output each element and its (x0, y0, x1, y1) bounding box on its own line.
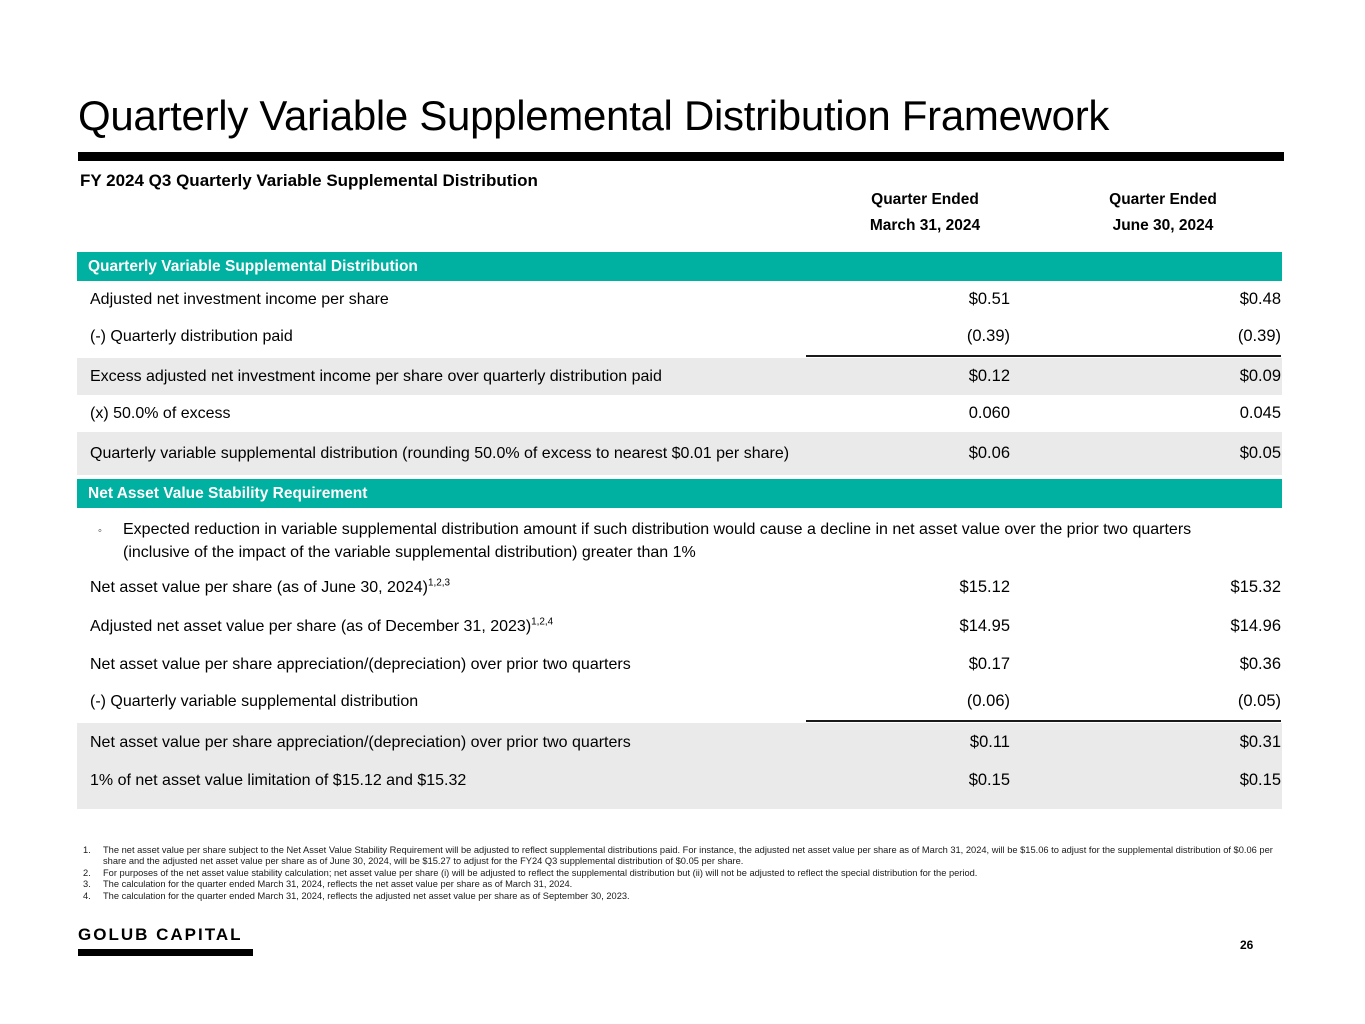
row-value-q1: $0.11 (806, 732, 1044, 753)
table-row: Excess adjusted net investment income pe… (77, 358, 1282, 395)
table-net-asset-value-stability-requirement: Net Asset Value Stability Requirement ◦ … (77, 479, 1282, 809)
logo-underline-bar (78, 949, 253, 956)
footnote-number: 4. (83, 891, 103, 902)
table-quarterly-variable-supplemental-distribution: Quarterly Variable Supplemental Distribu… (77, 252, 1282, 475)
page-number: 26 (1240, 938, 1253, 952)
title-divider-rule (78, 152, 1284, 161)
table-row: Adjusted net asset value per share (as o… (77, 607, 1282, 646)
table-row: Net asset value per share appreciation/(… (77, 646, 1282, 683)
column-header-q1-line1: Quarter Ended (806, 187, 1044, 213)
page-title: Quarterly Variable Supplemental Distribu… (78, 92, 1109, 140)
footnote-number: 2. (83, 868, 103, 879)
section-band-net-asset-value-stability-requirement: Net Asset Value Stability Requirement (77, 479, 1282, 508)
row-label: (-) Quarterly variable supplemental dist… (77, 691, 806, 712)
row-value-q2: $14.96 (1044, 616, 1282, 637)
row-label: 1% of net asset value limitation of $15.… (77, 770, 806, 791)
column-header-q2-line2: June 30, 2024 (1044, 213, 1282, 239)
row-value-q1: $14.95 (806, 616, 1044, 637)
row-label-footnote-ref: 1,2,3 (428, 578, 450, 589)
table-row: Net asset value per share (as of June 30… (77, 568, 1282, 607)
row-value-q2: $0.48 (1044, 289, 1282, 310)
column-header-q2: Quarter Ended June 30, 2024 (1044, 187, 1282, 239)
footnote-text: The net asset value per share subject to… (103, 845, 1283, 868)
row-label: Net asset value per share (as of June 30… (77, 577, 806, 598)
row-label: Excess adjusted net investment income pe… (77, 366, 806, 387)
table-row: (-) Quarterly distribution paid (0.39) (… (77, 318, 1282, 355)
row-value-q2: $0.05 (1044, 443, 1282, 464)
table-row: (x) 50.0% of excess 0.060 0.045 (77, 395, 1282, 432)
column-header-q1-line2: March 31, 2024 (806, 213, 1044, 239)
row-value-q2: $0.15 (1044, 770, 1282, 791)
row-value-q1: $0.51 (806, 289, 1044, 310)
table-row-spacer (77, 799, 1282, 809)
footnote-text: The calculation for the quarter ended Ma… (103, 891, 1283, 902)
row-label: Net asset value per share appreciation/(… (77, 732, 806, 753)
footnote-number: 1. (83, 845, 103, 868)
row-value-q1: $0.12 (806, 366, 1044, 387)
footnote-text: The calculation for the quarter ended Ma… (103, 879, 1283, 890)
row-value-q2: $15.32 (1044, 577, 1282, 598)
row-value-q1: $15.12 (806, 577, 1044, 598)
row-label-text: Net asset value per share (as of June 30… (90, 579, 428, 596)
table-row: 1% of net asset value limitation of $15.… (77, 761, 1282, 799)
row-label: (-) Quarterly distribution paid (77, 326, 806, 347)
column-header-q2-line1: Quarter Ended (1044, 187, 1282, 213)
row-value-q1: (0.39) (806, 326, 1044, 347)
row-value-q1: 0.060 (806, 403, 1044, 424)
row-value-q2: $0.36 (1044, 654, 1282, 675)
table-row: Quarterly variable supplemental distribu… (77, 432, 1282, 475)
row-label: Quarterly variable supplemental distribu… (77, 443, 806, 464)
row-value-q2: (0.05) (1044, 691, 1282, 712)
table-row: Net asset value per share appreciation/(… (77, 723, 1282, 761)
row-value-q2: (0.39) (1044, 326, 1282, 347)
row-label: Adjusted net asset value per share (as o… (77, 616, 806, 637)
footnote-item: 1. The net asset value per share subject… (83, 845, 1283, 868)
table-row: Adjusted net investment income per share… (77, 281, 1282, 318)
footnote-text: For purposes of the net asset value stab… (103, 868, 1283, 879)
row-label: Net asset value per share appreciation/(… (77, 654, 806, 675)
row-label: Adjusted net investment income per share (77, 289, 806, 310)
logo-wordmark: GOLUB CAPITAL (78, 925, 253, 945)
row-value-q2: $0.09 (1044, 366, 1282, 387)
row-value-q1: $0.15 (806, 770, 1044, 791)
footnote-number: 3. (83, 879, 103, 890)
footnotes: 1. The net asset value per share subject… (83, 845, 1283, 902)
row-label: (x) 50.0% of excess (77, 403, 806, 424)
company-logo: GOLUB CAPITAL (78, 925, 253, 956)
footnote-item: 3. The calculation for the quarter ended… (83, 879, 1283, 890)
slide-root: Quarterly Variable Supplemental Distribu… (0, 0, 1365, 1024)
table-row: (-) Quarterly variable supplemental dist… (77, 683, 1282, 720)
row-value-q1: $0.06 (806, 443, 1044, 464)
row-value-q2: 0.045 (1044, 403, 1282, 424)
bullet-note-text: Expected reduction in variable supplemen… (123, 518, 1282, 564)
footnote-item: 2. For purposes of the net asset value s… (83, 868, 1283, 879)
column-header-q1: Quarter Ended March 31, 2024 (806, 187, 1044, 239)
row-value-q1: $0.17 (806, 654, 1044, 675)
bullet-circle-icon: ◦ (77, 518, 123, 564)
row-value-q1: (0.06) (806, 691, 1044, 712)
footnote-item: 4. The calculation for the quarter ended… (83, 891, 1283, 902)
row-label-text: Adjusted net asset value per share (as o… (90, 618, 531, 635)
bullet-note: ◦ Expected reduction in variable supplem… (77, 508, 1282, 568)
row-label-footnote-ref: 1,2,4 (531, 617, 553, 628)
section-band-quarterly-variable-supplemental-distribution: Quarterly Variable Supplemental Distribu… (77, 252, 1282, 281)
sub-heading: FY 2024 Q3 Quarterly Variable Supplement… (80, 171, 538, 191)
row-value-q2: $0.31 (1044, 732, 1282, 753)
